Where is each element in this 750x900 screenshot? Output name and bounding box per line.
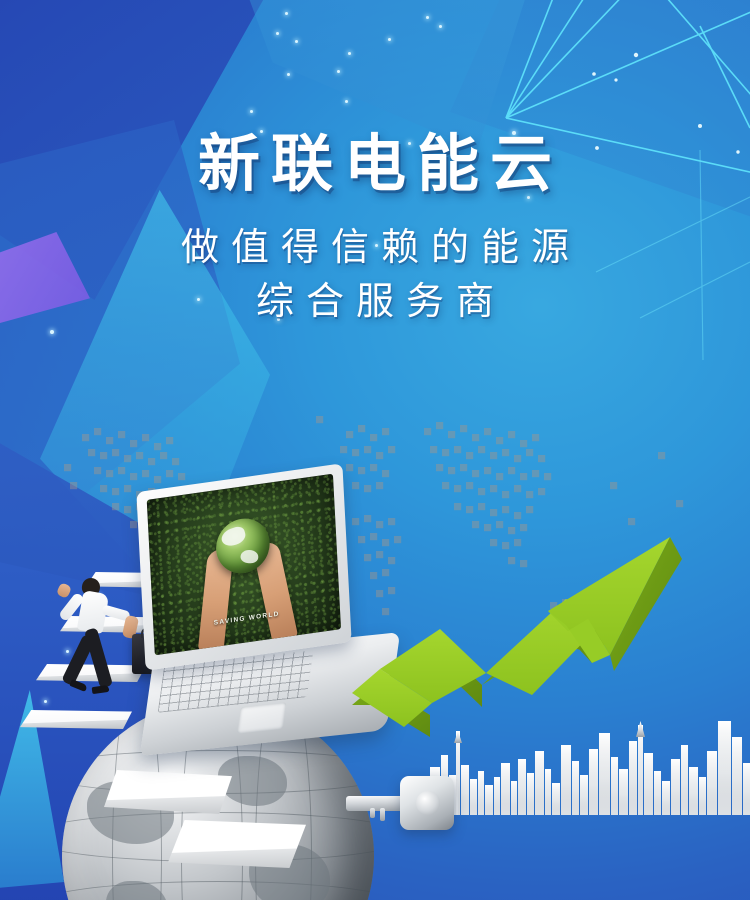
businessman-leg-front bbox=[61, 634, 95, 686]
businessman-shoe bbox=[69, 679, 87, 692]
subtitle-line-2: 综合服务商 bbox=[0, 276, 750, 330]
key-tooth bbox=[370, 808, 375, 818]
page-title: 新联电能云 bbox=[0, 134, 750, 196]
key-tooth bbox=[380, 808, 385, 821]
businessman-shoe bbox=[92, 685, 110, 694]
key-shaft bbox=[346, 796, 408, 811]
headline-block: 新联电能云 做值得信赖的能源 综合服务商 bbox=[0, 134, 750, 330]
laptop-lid: SAVING WORLD bbox=[136, 463, 351, 670]
laptop-screen: SAVING WORLD bbox=[147, 474, 341, 656]
floating-platform bbox=[168, 820, 306, 868]
key-head bbox=[400, 776, 454, 830]
growth-arrow bbox=[352, 515, 682, 745]
subtitle-line-1: 做值得信赖的能源 bbox=[0, 222, 750, 276]
businessman-hand-raised bbox=[56, 582, 72, 599]
promotional-banner: 新联电能云 做值得信赖的能源 综合服务商 bbox=[0, 0, 750, 900]
subtitle-group: 做值得信赖的能源 综合服务商 bbox=[0, 222, 750, 330]
businessman-legs bbox=[70, 628, 114, 694]
laptop-trackpad bbox=[237, 702, 286, 733]
